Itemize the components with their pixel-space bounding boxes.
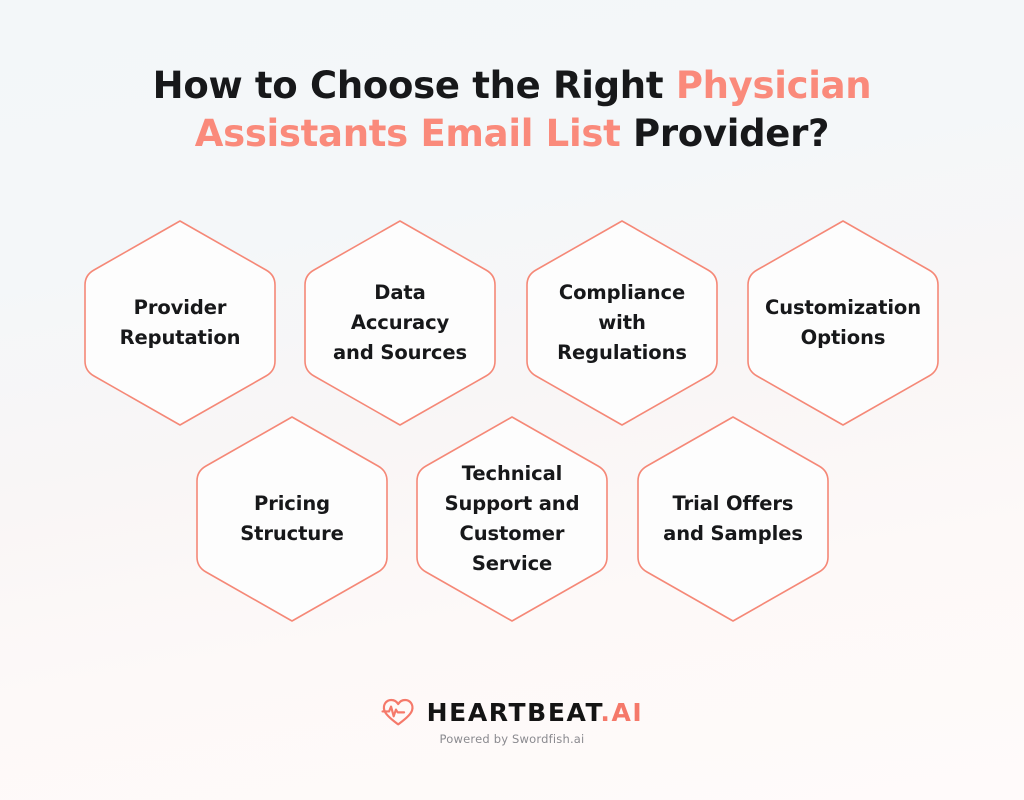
logo-wordmark: HEARTBEAT.AI <box>427 700 644 725</box>
hexagon-label: Provider Reputation <box>91 293 269 353</box>
hexagon-technical-support[interactable]: Technical Support and Customer Service <box>412 412 612 626</box>
hexagon-label: Data Accuracy and Sources <box>311 278 489 368</box>
hexagon-label: Pricing Structure <box>203 489 381 549</box>
hexagon-data-accuracy[interactable]: Data Accuracy and Sources <box>300 216 500 430</box>
logo-tagline: Powered by Swordfish.ai <box>440 734 585 746</box>
hexagon-trial-offers[interactable]: Trial Offers and Samples <box>633 412 833 626</box>
heart-pulse-icon <box>381 697 415 727</box>
hexagon-label: Technical Support and Customer Service <box>423 459 601 579</box>
hexagon-label: Trial Offers and Samples <box>644 489 822 549</box>
hexagon-customization[interactable]: Customization Options <box>743 216 943 430</box>
logo-wordmark-tld: .AI <box>600 698 643 727</box>
infographic-canvas: How to Choose the Right Physician Assist… <box>0 0 1024 800</box>
hexagon-compliance[interactable]: Compliance with Regulations <box>522 216 722 430</box>
logo-wordmark-main: HEARTBEAT <box>427 698 601 727</box>
hexagon-provider-reputation[interactable]: Provider Reputation <box>80 216 280 430</box>
logo-row: HEARTBEAT.AI <box>381 697 644 727</box>
hexagon-pricing-structure[interactable]: Pricing Structure <box>192 412 392 626</box>
hexagon-label: Compliance with Regulations <box>533 278 711 368</box>
hexagon-grid: Provider Reputation Data Accuracy and So… <box>0 0 1024 680</box>
hexagon-label: Customization Options <box>754 293 932 353</box>
brand-logo: HEARTBEAT.AI Powered by Swordfish.ai <box>0 697 1024 746</box>
